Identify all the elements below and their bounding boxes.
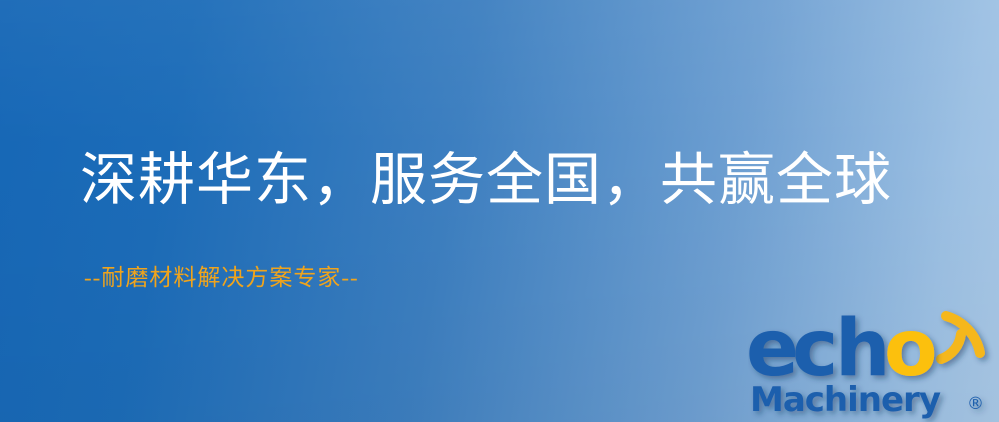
hero-banner: 深耕华东，服务全国，共赢全球 --耐磨材料解决方案专家-- e c h o (0, 0, 999, 422)
logo-machinery-text: Machinery (750, 380, 941, 420)
signal-waves-icon (941, 316, 980, 359)
page-subtitle: --耐磨材料解决方案专家-- (84, 266, 359, 289)
company-logo[interactable]: e c h o Machinery ® (748, 298, 999, 422)
logo-registered-mark: ® (967, 394, 984, 414)
page-title: 深耕华东，服务全国，共赢全球 (80, 152, 892, 209)
